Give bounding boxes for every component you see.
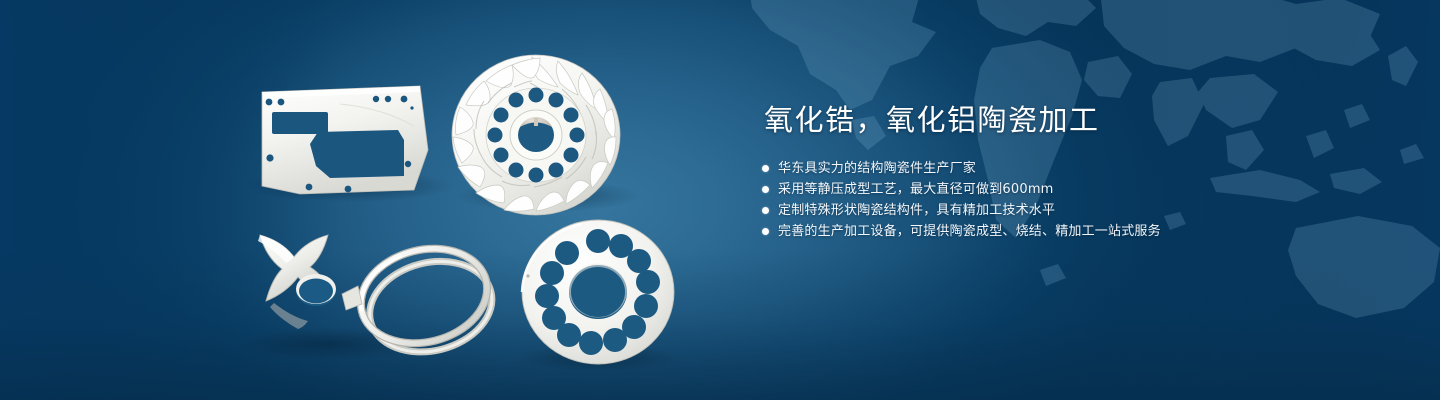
feature-text: 完善的生产加工设备，可提供陶瓷成型、烧结、精加工一站式服务	[778, 221, 1161, 242]
bullet-dot-icon	[762, 186, 769, 193]
ceramic-products-photo	[0, 0, 720, 400]
ceramic-perforated-disc	[522, 220, 674, 364]
list-item: 采用等静压成型工艺，最大直径可做到600mm	[762, 179, 1362, 200]
list-item: 定制特殊形状陶瓷结构件，具有精加工技术水平	[762, 200, 1362, 221]
feature-text: 定制特殊形状陶瓷结构件，具有精加工技术水平	[778, 200, 1055, 221]
bullet-dot-icon	[762, 165, 769, 172]
banner-feature-list: 华东具实力的结构陶瓷件生产厂家 采用等静压成型工艺，最大直径可做到600mm 定…	[762, 158, 1362, 242]
feature-text: 华东具实力的结构陶瓷件生产厂家	[778, 158, 976, 179]
bullet-dot-icon	[762, 207, 769, 214]
hero-banner: 氧化锆，氧化铝陶瓷加工 华东具实力的结构陶瓷件生产厂家 采用等静压成型工艺，最大…	[0, 0, 1440, 400]
ceramic-machined-plate	[262, 86, 428, 194]
banner-headline: 氧化锆，氧化铝陶瓷加工	[764, 106, 1362, 135]
bullet-dot-icon	[762, 228, 769, 235]
feature-text: 采用等静压成型工艺，最大直径可做到600mm	[778, 179, 1054, 200]
list-item: 华东具实力的结构陶瓷件生产厂家	[762, 158, 1362, 179]
banner-copy: 氧化锆，氧化铝陶瓷加工 华东具实力的结构陶瓷件生产厂家 采用等静压成型工艺，最大…	[762, 106, 1362, 242]
ceramic-vaned-impeller	[452, 55, 620, 215]
ceramic-cross-rotor	[258, 235, 336, 329]
list-item: 完善的生产加工设备，可提供陶瓷成型、烧结、精加工一站式服务	[762, 221, 1362, 242]
